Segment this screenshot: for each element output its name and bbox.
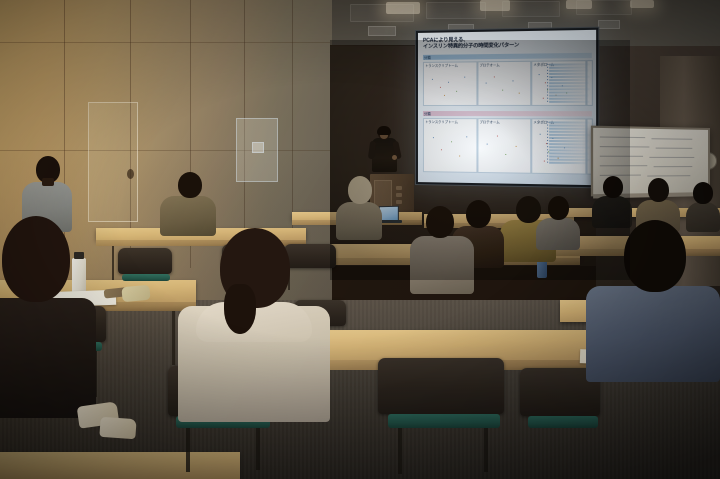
lecture-hall-screenshot: PCAにより見える、 インスリン特異的分子の時間変化パターン 分類 トランスクリ… [0, 0, 720, 479]
chair-leg [398, 428, 402, 474]
person-head [648, 178, 669, 202]
slide-column-header: トランスクリプトーム [425, 119, 458, 124]
slide-column-header: プロテオーム [479, 62, 499, 67]
person-torso [336, 202, 382, 240]
slide-legend-list [549, 62, 592, 104]
slide-legend-list [549, 120, 592, 170]
presenter [368, 127, 402, 179]
wall-panel-seam [0, 42, 330, 43]
person-torso [536, 218, 580, 250]
person-torso [410, 236, 474, 294]
slide-column-header: プロテオーム [479, 119, 499, 124]
sneaker [99, 417, 136, 439]
ceiling-light [630, 0, 654, 8]
slide-section-label-bottom: 分類 [424, 111, 431, 116]
ceiling-vent [368, 26, 396, 36]
presenter-hair [377, 126, 391, 135]
person-head [603, 176, 623, 198]
podium-control[interactable] [396, 193, 402, 197]
ceiling-light [480, 0, 510, 11]
audience-member [336, 176, 382, 238]
person-head [693, 182, 713, 204]
slide-column-header: トランスクリプトーム [425, 63, 458, 68]
podium-control[interactable] [396, 200, 402, 204]
slide-section-label-top: 分類 [424, 54, 431, 59]
slide-scatter-plot [426, 127, 472, 168]
audience-member [0, 216, 96, 416]
person-head [548, 196, 569, 220]
presenter-hand [392, 155, 397, 160]
chair[interactable] [378, 358, 504, 414]
ceiling-light [566, 0, 592, 9]
chair-leg [484, 428, 488, 472]
chair[interactable] [118, 248, 172, 274]
slide-surface: PCAにより見える、 インスリン特異的分子の時間変化パターン 分類 トランスクリ… [418, 30, 596, 185]
person-torso [586, 286, 720, 382]
audience-member [178, 228, 330, 418]
slide-section-bar-top: 分類 [423, 53, 592, 60]
slide-scatter-plot [481, 70, 527, 101]
door[interactable] [88, 102, 138, 222]
ceiling-vent [598, 20, 620, 29]
audience-member [536, 196, 580, 248]
slide-scatter-plot [426, 71, 472, 101]
person-head [178, 172, 202, 198]
desk-leg [172, 311, 175, 365]
audience-member [592, 176, 632, 226]
wall-notice-label [252, 142, 264, 153]
person-head [2, 216, 70, 302]
person-torso [0, 298, 96, 418]
person-head [426, 206, 454, 238]
audience-member [410, 206, 474, 292]
desk-row-nearest [0, 452, 240, 479]
ceiling-panel [502, 1, 560, 17]
chair-seat[interactable] [528, 416, 598, 428]
chair-leg [186, 428, 190, 472]
person-head [348, 176, 372, 204]
chair-seat[interactable] [388, 414, 500, 428]
door-knob-icon[interactable] [127, 169, 134, 179]
person-ponytail [224, 284, 256, 334]
chair-seat[interactable] [122, 274, 170, 281]
slide-section-bar-bottom: 分類 [423, 111, 592, 116]
slide-title: PCAにより見える、 インスリン特異的分子の時間変化パターン [423, 35, 592, 50]
person-neck [42, 178, 54, 186]
person-head [624, 220, 686, 292]
wall-panel-seam [292, 0, 293, 242]
chair-leg [256, 428, 260, 470]
projection-screen: PCAにより見える、 インスリン特異的分子の時間変化パターン 分類 トランスクリ… [415, 27, 599, 189]
wall-panel-seam [0, 150, 330, 151]
pouch-bag [121, 285, 150, 302]
ceiling-panel [426, 2, 486, 19]
podium-control[interactable] [396, 186, 402, 190]
audience-member [160, 172, 216, 234]
slide-scatter-plot [481, 127, 527, 168]
ceiling-light [386, 2, 420, 14]
audience-member [586, 220, 720, 380]
slide-title-line2: インスリン特異的分子の時間変化パターン [423, 42, 592, 51]
